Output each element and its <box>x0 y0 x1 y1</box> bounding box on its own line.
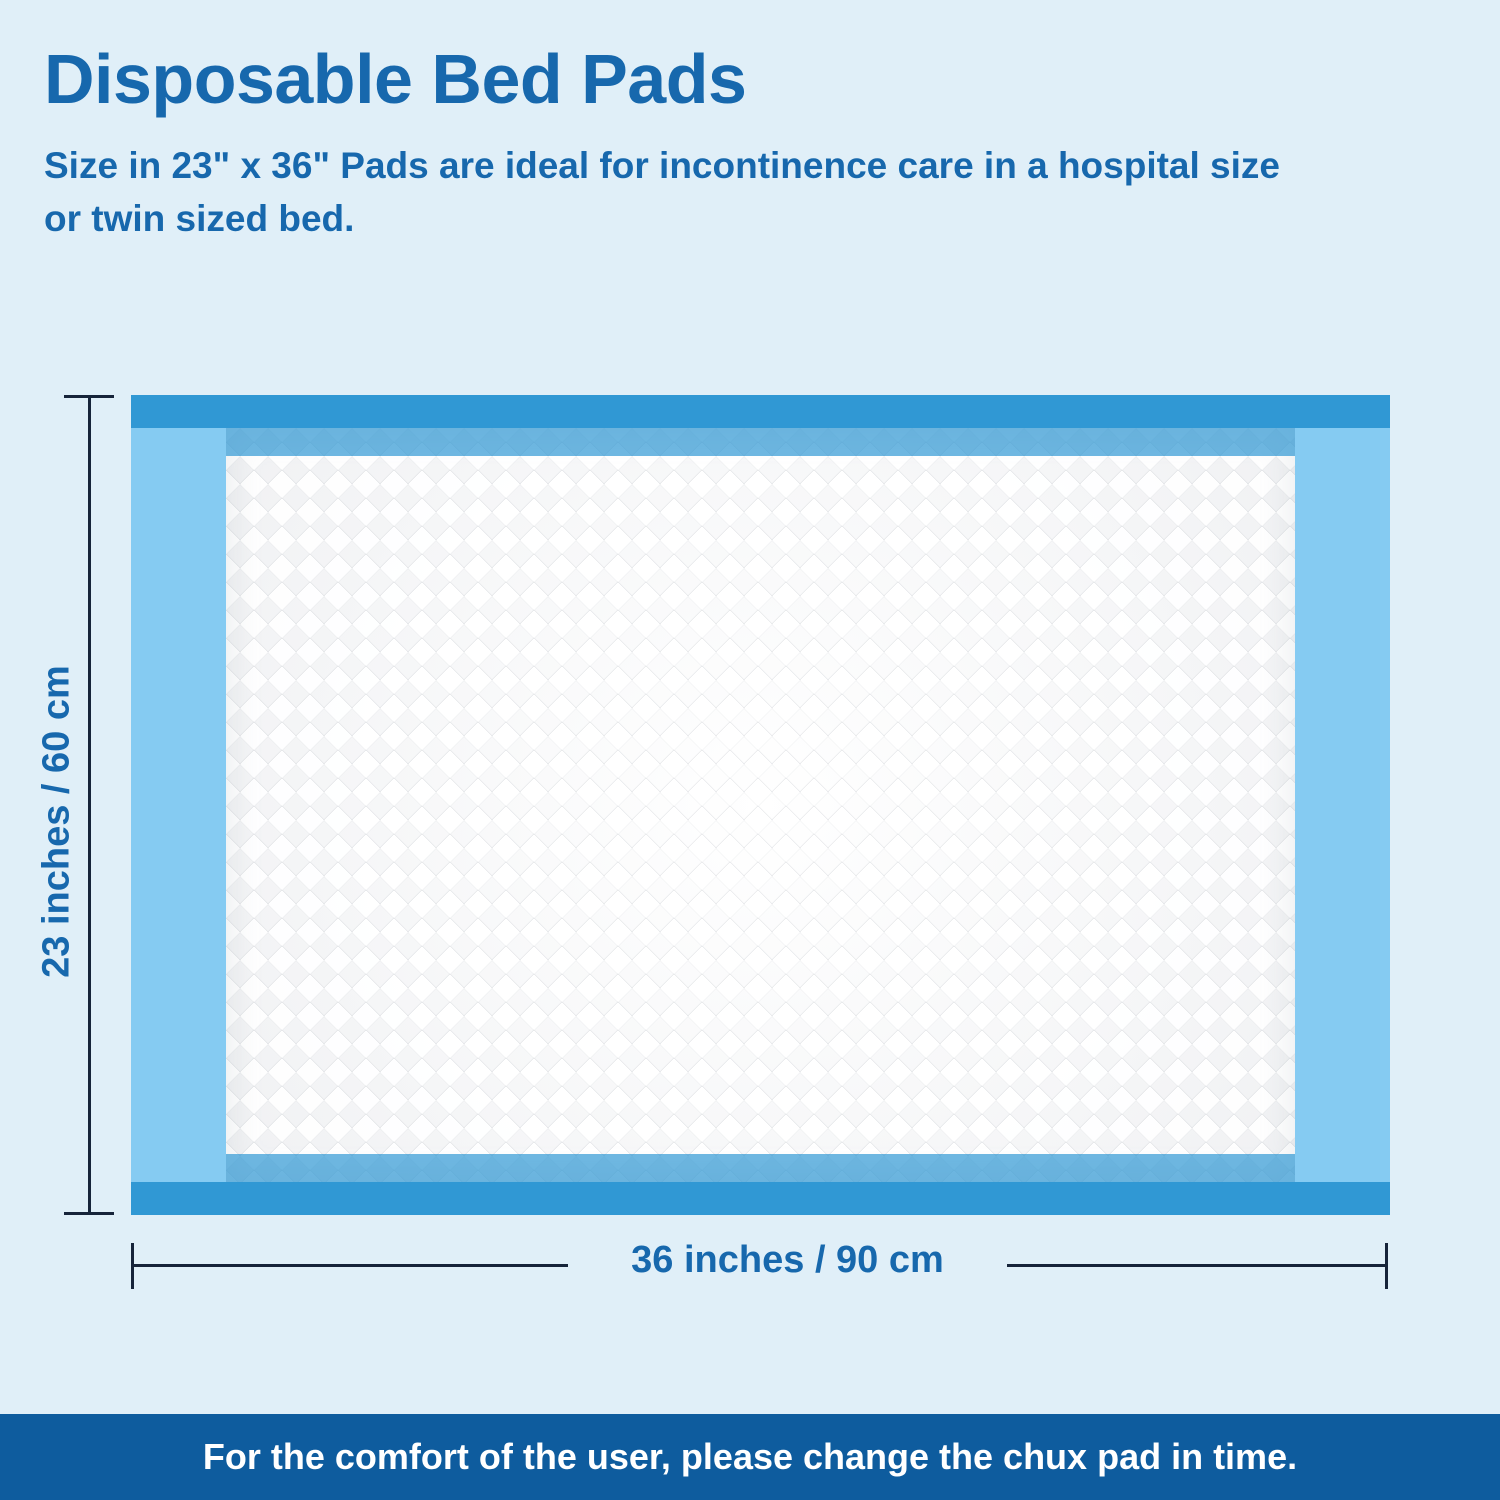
height-dimension-cap-top <box>64 395 114 398</box>
width-dimension-line-left <box>131 1264 568 1267</box>
height-dimension-label: 23 inches / 60 cm <box>36 472 79 1172</box>
width-dimension-line-right <box>1007 1264 1388 1267</box>
pad-top-band <box>131 395 1390 428</box>
height-dimension-cap-bottom <box>64 1212 114 1215</box>
height-dimension-line <box>88 395 91 1215</box>
width-dimension-label: 36 inches / 90 cm <box>568 1239 1007 1282</box>
footer-message: For the comfort of the user, please chan… <box>203 1436 1297 1478</box>
pad-bottom-band <box>131 1182 1390 1215</box>
page-subtitle: Size in 23" x 36" Pads are ideal for inc… <box>44 140 1299 245</box>
pad-quilted-core <box>226 428 1295 1182</box>
width-dimension-cap-right <box>1385 1243 1388 1289</box>
pad-top-overlay-strip <box>226 428 1295 456</box>
footer-banner: For the comfort of the user, please chan… <box>0 1414 1500 1500</box>
page-title: Disposable Bed Pads <box>44 44 1364 114</box>
pad-bottom-overlay-strip <box>226 1154 1295 1182</box>
header-block: Disposable Bed Pads Size in 23" x 36" Pa… <box>44 44 1364 245</box>
width-dimension-cap-left <box>131 1243 134 1289</box>
product-image-bed-pad <box>131 395 1390 1215</box>
